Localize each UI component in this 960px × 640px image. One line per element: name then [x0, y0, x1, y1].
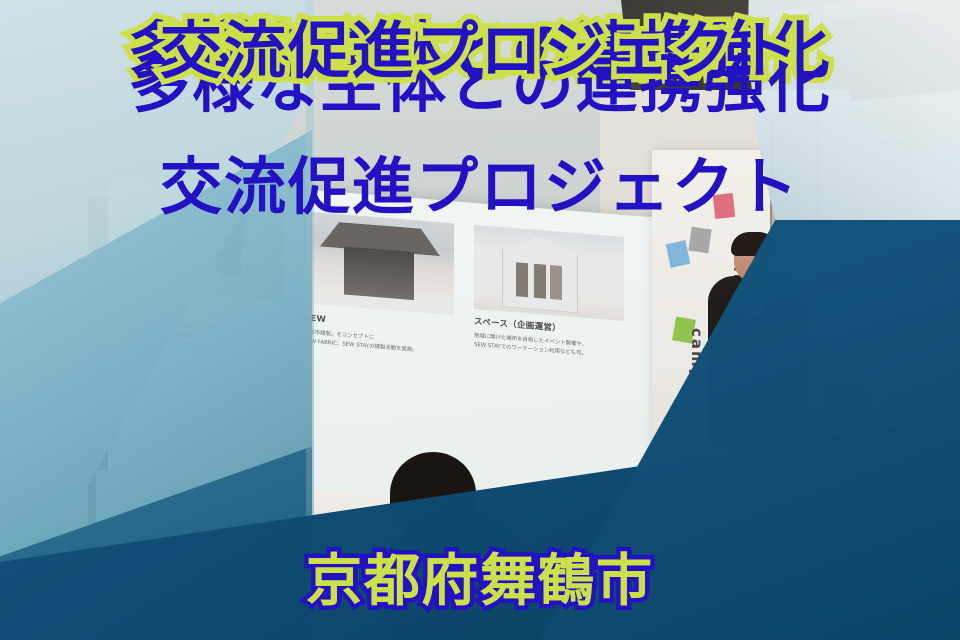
promo-thumbnail: 縫製 『服をつくる。未来を彩る。』を掲げ アパレルブランドの量産ラインや 自社ブ… — [0, 0, 960, 640]
headline-line2: 交流促進プロジェクト — [0, 136, 960, 226]
headline-group: 多様な主体との連携強化 多様な主体との連携強化 交流促進プロジェクト 交流促進プ… — [0, 0, 960, 640]
subtitle: 京都府舞鶴市 — [0, 536, 960, 617]
